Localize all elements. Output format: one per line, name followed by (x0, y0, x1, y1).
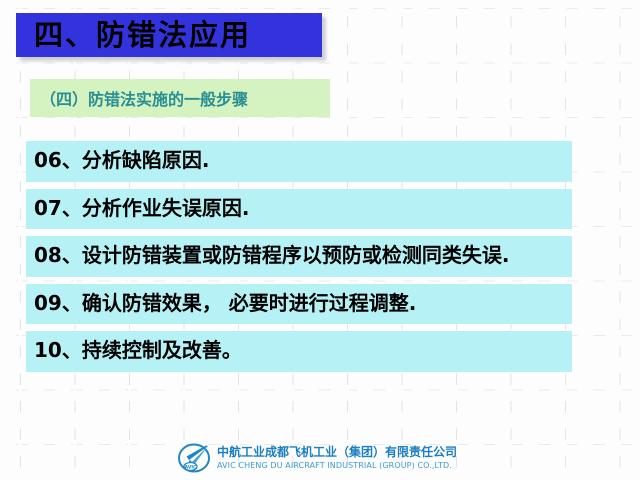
slide-title-text: 四、防错法应用 (16, 21, 251, 50)
footer-text-block: 中航工业成都飞机工业（集团）有限责任公司 AVIC CHENG DU AIRCR… (217, 446, 457, 470)
step-item-10: 10、持续控制及改善。 (26, 331, 572, 372)
avic-logo-icon: AVIC (178, 443, 212, 473)
footer-branding: AVIC 中航工业成都飞机工业（集团）有限责任公司 AVIC CHENG DU … (178, 443, 457, 473)
slide-subtitle-text: （四）防错法实施的一般步骤 (30, 86, 248, 110)
avic-logo-wordmark: AVIC (185, 464, 197, 470)
slide-title-banner: 四、防错法应用 (16, 13, 322, 57)
step-item-06: 06、分析缺陷原因. (26, 141, 572, 182)
slide-subtitle-banner: （四）防错法实施的一般步骤 (30, 79, 330, 117)
step-item-08: 08、设计防错装置或防错程序以预防或检测同类失误. (26, 236, 572, 277)
steps-list: 06、分析缺陷原因. 07、分析作业失误原因. 08、设计防错装置或防错程序以预… (26, 141, 572, 372)
slide-canvas: 四、防错法应用 （四）防错法实施的一般步骤 06、分析缺陷原因. 07、分析作业… (0, 0, 640, 480)
footer-company-name-en: AVIC CHENG DU AIRCRAFT INDUSTRIAL (GROUP… (217, 461, 457, 471)
step-item-07: 07、分析作业失误原因. (26, 189, 572, 230)
step-item-09: 09、确认防错效果， 必要时进行过程调整. (26, 284, 572, 325)
footer-company-name-cn: 中航工业成都飞机工业（集团）有限责任公司 (217, 446, 457, 460)
